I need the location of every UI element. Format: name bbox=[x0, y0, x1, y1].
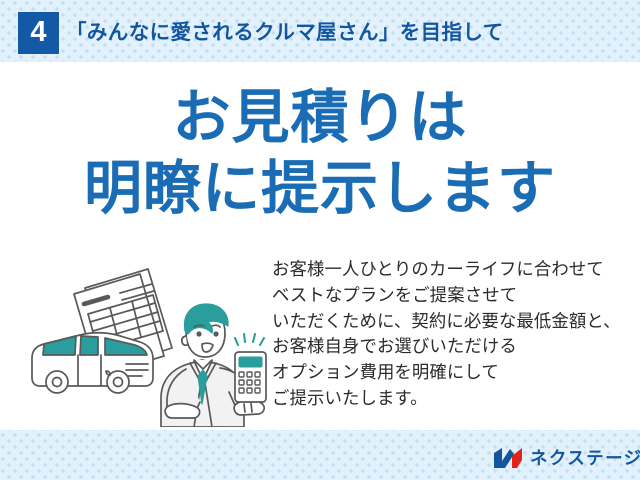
brand-logo-text: ネクステージ bbox=[530, 445, 640, 470]
sparkle-icon bbox=[235, 334, 264, 345]
body-copy-line: オプション費用を明確にして bbox=[272, 360, 621, 386]
body-copy-line: お客様自身でお選びいただける bbox=[272, 334, 621, 360]
nextage-n-mark bbox=[493, 447, 523, 469]
calculator-icon bbox=[235, 352, 266, 402]
body-copy-line: ご提示いたします。 bbox=[272, 386, 621, 412]
body-copy: お客様一人ひとりのカーライフに合わせて ベストなプランをご提案させて いただくた… bbox=[272, 257, 621, 412]
slide-canvas: 4 「みんなに愛されるクルマ屋さん」を目指して お見積りは 明瞭に提示します お… bbox=[0, 0, 640, 480]
van-icon bbox=[32, 333, 153, 393]
body-copy-line: お客様一人ひとりのカーライフに合わせて bbox=[272, 257, 621, 283]
headline-line-2: 明瞭に提示します bbox=[0, 159, 640, 218]
headline: お見積りは 明瞭に提示します bbox=[0, 88, 640, 218]
headline-line-1: お見積りは bbox=[0, 88, 640, 147]
section-number-badge: 4 bbox=[18, 12, 59, 54]
section-title: 「みんなに愛されるクルマ屋さん」を目指して bbox=[66, 14, 504, 52]
slide-header: 4 「みんなに愛されるクルマ屋さん」を目指して bbox=[0, 0, 640, 62]
body-copy-line: ベストなプランをご提案させて bbox=[272, 283, 621, 309]
sales-staff-illustration bbox=[22, 252, 272, 427]
section-number-label: 4 bbox=[30, 18, 46, 49]
content-panel: お見積りは 明瞭に提示します お客様一人ひとりのカーライフに合わせて ベストなプ… bbox=[0, 62, 640, 430]
brand-logo: ネクステージ bbox=[493, 445, 640, 470]
body-copy-line: いただくために、契約に必要な最低金額と、 bbox=[272, 309, 621, 335]
